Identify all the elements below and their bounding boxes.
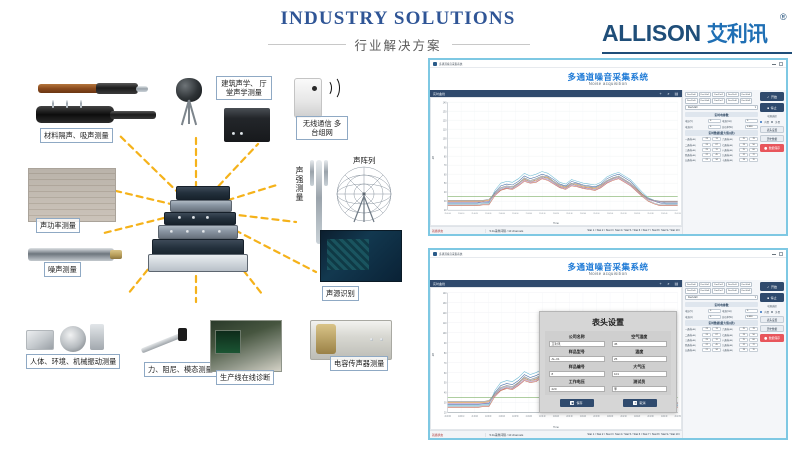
central-daq-chassis — [148, 184, 256, 276]
channel-chip-list-2[interactable]: Dev1/ai0Dev1/ai1Dev1/ai2Dev1/ai3Dev1/ai4… — [685, 282, 758, 294]
page-title-en: INDUSTRY SOLUTIONS — [268, 8, 528, 30]
svg-text:21:00:40: 21:00:40 — [499, 213, 505, 215]
channel-value[interactable]: 11 — [712, 148, 721, 152]
power-supply-label-2: 电源选择 — [760, 304, 784, 308]
channel-tab[interactable]: Stat 8 / — [652, 229, 660, 232]
radio-external-icon[interactable] — [771, 311, 773, 313]
channel-tab[interactable]: Stat 3 / — [606, 229, 614, 232]
svg-text:21:00:00: 21:00:00 — [445, 213, 451, 215]
channel-value[interactable]: 22 — [739, 153, 748, 157]
svg-text:21:00:20: 21:00:20 — [472, 213, 478, 215]
tripod-leg-3 — [188, 100, 190, 124]
channel-value[interactable]: 25 — [739, 137, 748, 141]
channel-chip[interactable]: Dev1/ai5 — [685, 288, 698, 293]
field-label: 总功率(W) — [722, 125, 744, 129]
square-icon: ■ — [767, 106, 769, 110]
dialog-field-input[interactable]: 25 — [612, 356, 668, 362]
channel-value-row: 二通道(dB)2487七通道(dB)2356 — [685, 143, 758, 147]
svg-text:21:00:40: 21:00:40 — [499, 416, 505, 418]
channel-chip[interactable]: Dev1/ai5 — [685, 98, 698, 103]
svg-text:60: 60 — [444, 173, 447, 176]
channel-value[interactable]: 66 — [749, 148, 758, 152]
sw-titlebar-1: 多通道噪音采集系统 — [430, 60, 786, 68]
check-icon: ✓ — [767, 95, 770, 99]
channel-value[interactable]: 45 — [712, 153, 721, 157]
channel-chip[interactable]: Dev1/ai6 — [699, 288, 712, 293]
channel-tab[interactable]: Stat 6 / — [633, 229, 641, 232]
field-value[interactable]: 0 — [708, 125, 721, 129]
plot-toolbar-1: 实时曲线 + ⌕ ▤ — [430, 90, 682, 97]
status-bar-1: 就绪状态 5.0s采样间隔 / 10 channels Stat 1 /Stat… — [430, 226, 682, 234]
dialog-field-input[interactable]: 101 — [612, 371, 668, 377]
channel-value[interactable]: 24 — [702, 333, 711, 337]
power-radio-group-1[interactable]: 内置 外置 — [760, 120, 784, 124]
channel-tab[interactable]: Stat 4 / — [615, 229, 623, 232]
svg-text:60: 60 — [444, 370, 447, 375]
field-value[interactable]: 0 — [708, 119, 721, 123]
dialog-field-input[interactable]: 李 — [612, 386, 668, 392]
realtime-max-header-2: 实时数据(最大值)(表) — [685, 320, 758, 326]
svg-text:40: 40 — [444, 390, 447, 395]
svg-text:20: 20 — [444, 410, 447, 415]
channel-chip[interactable]: Dev1/ai2 — [712, 92, 725, 97]
control-panel-main-1: Dev1/ai0Dev1/ai1Dev1/ai2Dev1/ai3Dev1/ai4… — [685, 92, 758, 232]
header-settings-dialog[interactable]: 表头设置 公司名称艾利讯空气湿度45样品型号AL-01温度25样品编号8大气压1… — [539, 311, 677, 413]
channel-label: 三通道(dB) — [685, 148, 701, 152]
channel-value[interactable]: 21 — [702, 348, 711, 352]
dialog-field-label: 温度 — [635, 349, 643, 355]
dialog-field: 温度25 — [612, 349, 668, 362]
channel-tab[interactable]: Stat 7 / — [643, 433, 651, 436]
title-block: INDUSTRY SOLUTIONS 行业解决方案 — [268, 8, 528, 54]
app-icon — [433, 252, 437, 256]
channel-value[interactable]: 45 — [712, 343, 721, 347]
dialog-field: 测试员李 — [612, 379, 668, 392]
save-label-1: 数据保存 — [769, 146, 780, 150]
channel-tab[interactable]: Stat 3 / — [606, 433, 614, 436]
intensity-probe-mic-2 — [324, 160, 328, 186]
device-select-2[interactable]: Dev1/ai0 — [685, 295, 758, 300]
channel-chip[interactable]: Dev1/ai4 — [740, 92, 753, 97]
svg-text:70: 70 — [444, 164, 447, 167]
channel-tab[interactable]: Stat 5 / — [624, 229, 632, 232]
svg-text:21:02:20: 21:02:20 — [634, 213, 640, 215]
control-panel-side-2: ✓ 开始 ■ 停止 电源选择 内置 外置 — [760, 282, 784, 436]
channel-label: 四通道(dB) — [685, 343, 701, 347]
radio-internal-icon[interactable] — [760, 311, 762, 313]
svg-text:30: 30 — [444, 400, 447, 405]
dialog-buttons: ▣ 保存 ✕ 取消 — [545, 395, 671, 407]
dialog-field-label: 样品编号 — [569, 364, 585, 370]
channel-value[interactable]: 25 — [739, 148, 748, 152]
channel-value[interactable]: 21 — [702, 158, 711, 162]
channel-value-row: 五通道(dB)2134十通道(dB)2870 — [685, 348, 758, 352]
field-voltage-2: 电压(V) 0 电流(mA) 0 — [685, 309, 758, 313]
chart-svg-1: 203040506070809010011012013014021:00:002… — [431, 98, 681, 225]
accelerometer-sensor — [90, 324, 104, 350]
svg-text:100: 100 — [443, 330, 447, 335]
power-supply-label-1: 电源选择 — [760, 114, 784, 118]
field-label: 电压(V) — [685, 119, 707, 123]
channel-value[interactable]: 28 — [739, 348, 748, 352]
dialog-field: 样品编号8 — [549, 364, 605, 377]
dialog-field-input[interactable]: 45 — [612, 341, 668, 347]
wifi-wave-2-icon — [326, 76, 340, 100]
channel-chip[interactable]: Dev1/ai8 — [726, 288, 739, 293]
field-current-2: 电流(A) 0 总功率(W) 0.000 — [685, 315, 758, 319]
channel-value[interactable]: 24 — [702, 143, 711, 147]
channel-value[interactable]: 22 — [702, 153, 711, 157]
field-value[interactable]: 0 — [708, 309, 721, 313]
channel-value[interactable]: 22 — [702, 343, 711, 347]
svg-text:21:01:30: 21:01:30 — [566, 416, 572, 418]
channel-chip[interactable]: Dev1/ai3 — [726, 282, 739, 287]
channel-value[interactable]: 56 — [749, 143, 758, 147]
maximize-icon[interactable] — [779, 252, 783, 256]
field-label: 电压(V) — [685, 309, 707, 313]
channel-value[interactable]: 23 — [702, 327, 711, 331]
control-panel-2: Dev1/ai0Dev1/ai1Dev1/ai2Dev1/ai3Dev1/ai4… — [682, 280, 786, 438]
channel-chip[interactable]: Dev1/ai0 — [685, 282, 698, 287]
svg-text:70: 70 — [444, 360, 447, 365]
channel-chip[interactable]: Dev1/ai1 — [699, 92, 712, 97]
channel-value[interactable]: 72 — [749, 153, 758, 157]
channel-chip[interactable]: Dev1/ai0 — [685, 92, 698, 97]
channel-chip[interactable]: Dev1/ai7 — [712, 288, 725, 293]
channel-value[interactable]: 34 — [712, 348, 721, 352]
solution-diagram: 材料隔声、吸声测量 建筑声学、 厅堂声学测量 无线通信 多台组网 声阵列 — [0, 62, 420, 450]
channel-tabs-1[interactable]: Stat 1 /Stat 2 /Stat 3 /Stat 4 /Stat 5 /… — [587, 229, 682, 232]
svg-text:21:02:40: 21:02:40 — [661, 416, 667, 418]
sound-level-meter-mic — [110, 250, 122, 259]
minimize-icon[interactable] — [772, 253, 776, 255]
control-panel-main-2: Dev1/ai0Dev1/ai1Dev1/ai2Dev1/ai3Dev1/ai4… — [685, 282, 758, 436]
caption-material-insulation: 材料隔声、吸声测量 — [40, 128, 113, 143]
channel-value[interactable]: 29 — [702, 148, 711, 152]
channel-value[interactable]: 78 — [749, 327, 758, 331]
triaxial-accelerometer — [26, 330, 54, 350]
field-value[interactable]: 0 — [745, 309, 758, 313]
tube-port-1 — [52, 100, 54, 108]
channel-chip[interactable]: Dev1/ai3 — [726, 92, 739, 97]
svg-text:21:01:00: 21:01:00 — [526, 416, 532, 418]
tube-port-2 — [66, 100, 68, 108]
channel-chip[interactable]: Dev1/ai1 — [699, 282, 712, 287]
zoom-icon[interactable]: ⌕ — [666, 91, 671, 96]
svg-text:120: 120 — [443, 310, 447, 315]
channel-value[interactable]: 78 — [749, 137, 758, 141]
chassis-module-2 — [170, 200, 232, 212]
save-data-button-2[interactable]: ⬤ 数据保存 — [760, 334, 784, 342]
header-settings-button-2[interactable]: 表头设置 — [760, 316, 784, 323]
page-header: INDUSTRY SOLUTIONS 行业解决方案 ALLISON 艾利讯 ® — [0, 0, 800, 62]
channel-tabs-2[interactable]: Stat 1 /Stat 2 /Stat 3 /Stat 4 /Stat 5 /… — [587, 433, 682, 436]
channel-value-row: 三通道(dB)2911八通道(dB)2566 — [685, 338, 758, 342]
impedance-tube-large — [36, 106, 114, 123]
intensity-probe-mic-1 — [310, 160, 314, 186]
svg-text:21:01:10: 21:01:10 — [539, 416, 545, 418]
chassis-terminal-block — [148, 254, 248, 272]
realtime-params-header-1: 实时电参数 — [685, 112, 758, 118]
svg-text:21:01:40: 21:01:40 — [580, 213, 586, 215]
start-button-1[interactable]: ✓ 开始 — [760, 92, 784, 101]
chassis-module-top — [176, 186, 230, 200]
channel-chip[interactable]: Dev1/ai2 — [712, 282, 725, 287]
channel-chip-list-1[interactable]: Dev1/ai0Dev1/ai1Dev1/ai2Dev1/ai3Dev1/ai4… — [685, 92, 758, 104]
chassis-knob-7 — [206, 216, 209, 219]
channel-chip[interactable]: Dev1/ai9 — [740, 98, 753, 103]
svg-text:21:02:10: 21:02:10 — [620, 213, 626, 215]
dialog-field: 工作电压220 — [549, 379, 605, 392]
chassis-knob-4 — [218, 230, 221, 233]
radio-internal-icon[interactable] — [760, 121, 762, 123]
svg-text:21:01:10: 21:01:10 — [539, 213, 545, 215]
channel-tab[interactable]: Stat 6 / — [633, 433, 641, 436]
channel-chip[interactable]: Dev1/ai8 — [726, 98, 739, 103]
channel-label: 七通道(dB) — [722, 143, 738, 147]
wireless-led-icon — [312, 86, 317, 91]
channel-chip[interactable]: Dev1/ai9 — [740, 288, 753, 293]
channel-tab[interactable]: Stat 9 / — [661, 433, 669, 436]
svg-text:21:02:10: 21:02:10 — [620, 416, 626, 418]
channel-label: 六通道(dB) — [722, 327, 738, 331]
svg-text:90: 90 — [444, 340, 447, 345]
channel-value[interactable]: 13 — [712, 137, 721, 141]
sw-body-2: 实时曲线 + ⌕ ▤ 20304050607080901001101201301… — [430, 280, 786, 438]
field-label: 电流(A) — [685, 125, 707, 129]
channel-label: 九通道(dB) — [722, 343, 738, 347]
field-value[interactable]: 0 — [745, 119, 758, 123]
svg-text:120: 120 — [443, 119, 447, 122]
menu-icon[interactable]: ▤ — [674, 91, 679, 96]
channel-value[interactable]: 29 — [702, 338, 711, 342]
dialog-cancel-button[interactable]: ✕ 取消 — [623, 399, 657, 407]
caption-production-line: 生产线在线诊断 — [216, 370, 274, 385]
status-mid-2: 5.0s采样间隔 / 10 channels — [485, 433, 587, 437]
channel-value[interactable]: 87 — [712, 333, 721, 337]
field-voltage-1: 电压(V) 0 电流(mA) 0 — [685, 119, 758, 123]
channel-tab[interactable]: Stat 5 / — [624, 433, 632, 436]
channel-tab[interactable]: Stat 8 / — [652, 433, 660, 436]
dialog-field-label: 样品型号 — [569, 349, 585, 355]
chassis-knob-3 — [202, 230, 205, 233]
svg-text:21:00:30: 21:00:30 — [485, 416, 491, 418]
channel-label: 五通道(dB) — [685, 348, 701, 352]
status-bar-2: 就绪状态 5.0s采样间隔 / 10 channels Stat 1 /Stat… — [430, 430, 682, 438]
minimize-icon[interactable] — [772, 63, 776, 65]
svg-text:100: 100 — [443, 137, 447, 140]
svg-text:50: 50 — [444, 380, 447, 385]
menu-icon[interactable]: ▤ — [674, 281, 679, 286]
dialog-field-input[interactable]: 艾利讯 — [549, 341, 605, 347]
channel-tab[interactable]: Stat 1 / — [587, 229, 595, 232]
app-icon — [433, 62, 437, 66]
close-icon: ✕ — [633, 401, 637, 405]
stop-button-2[interactable]: ■ 停止 — [760, 293, 784, 302]
power-internal-label: 内置 — [764, 120, 769, 124]
realtime-chart-1[interactable]: 203040506070809010011012013014021:00:002… — [430, 97, 682, 226]
start-button-2[interactable]: ✓ 开始 — [760, 282, 784, 291]
channel-tab[interactable]: Stat 9 / — [661, 229, 669, 232]
caption-modal: 力、阻尼、模态测量 — [144, 362, 217, 377]
header-settings-button-1[interactable]: 表头设置 — [760, 126, 784, 133]
channel-label: 五通道(dB) — [685, 158, 701, 162]
save-data-button-1[interactable]: ⬤ 数据保存 — [760, 144, 784, 152]
channel-label: 十通道(dB) — [722, 348, 738, 352]
svg-text:21:00:10: 21:00:10 — [458, 213, 464, 215]
stop-button-1[interactable]: ■ 停止 — [760, 103, 784, 112]
field-value[interactable]: 0.000 — [745, 125, 758, 129]
caption-noise-measurement: 噪声测量 — [44, 262, 81, 277]
trademark-icon: ® — [780, 12, 787, 22]
field-label: 电流(A) — [685, 315, 707, 319]
svg-text:21:00:00: 21:00:00 — [445, 416, 451, 418]
svg-text:110: 110 — [443, 128, 447, 131]
svg-text:21:00:50: 21:00:50 — [512, 213, 518, 215]
square-icon: ■ — [767, 296, 769, 300]
channel-value[interactable]: 28 — [739, 158, 748, 162]
power-external-label: 外置 — [775, 310, 780, 314]
caption-source-identification: 声源识别 — [322, 286, 359, 301]
beamforming-screenshot — [320, 230, 402, 282]
channel-value[interactable]: 25 — [739, 338, 748, 342]
slide-root: INDUSTRY SOLUTIONS 行业解决方案 ALLISON 艾利讯 ® — [0, 0, 800, 450]
zoom-icon[interactable]: ⌕ — [666, 281, 671, 286]
channel-value-row: 一通道(dB)2313六通道(dB)2578 — [685, 137, 758, 141]
channel-value[interactable]: 23 — [739, 143, 748, 147]
channel-value-row: 四通道(dB)2245九通道(dB)2272 — [685, 153, 758, 157]
channel-tab[interactable]: Stat 10 / — [670, 229, 680, 232]
title-rule-left — [268, 44, 346, 45]
history-data-button-1[interactable]: 历史数据 — [760, 135, 784, 142]
power-external-label: 外置 — [775, 120, 780, 124]
channel-chip[interactable]: Dev1/ai7 — [712, 98, 725, 103]
svg-text:21:02:00: 21:02:00 — [607, 416, 613, 418]
production-line-photo — [210, 320, 282, 372]
field-label: 电流(mA) — [722, 119, 744, 123]
title-rule-right — [452, 44, 530, 45]
channel-tab[interactable]: Stat 2 / — [597, 433, 605, 436]
channel-label: 二通道(dB) — [685, 333, 701, 337]
window-controls-2[interactable] — [772, 252, 783, 256]
field-value[interactable]: 0 — [708, 315, 721, 319]
channel-value-row: 一通道(dB)2313六通道(dB)2578 — [685, 327, 758, 331]
status-left-2: 就绪状态 — [430, 433, 485, 437]
tube-end-cap — [136, 86, 148, 92]
svg-text:30: 30 — [444, 200, 447, 203]
dialog-field: 空气湿度45 — [612, 334, 668, 347]
channel-value[interactable]: 11 — [712, 338, 721, 342]
channel-value[interactable]: 13 — [712, 327, 721, 331]
svg-text:21:00:30: 21:00:30 — [485, 213, 491, 215]
dialog-field-input[interactable]: AL-01 — [549, 356, 605, 362]
svg-text:21:02:20: 21:02:20 — [634, 416, 640, 418]
caption-sound-intensity: 声强测量 — [294, 166, 304, 202]
dialog-field-label: 大气压 — [633, 364, 645, 370]
dialog-field: 样品型号AL-01 — [549, 349, 605, 362]
channel-value[interactable]: 72 — [749, 343, 758, 347]
caption-building-acoustics: 建筑声学、 厅堂声学测量 — [216, 76, 272, 100]
channel-value[interactable]: 87 — [712, 143, 721, 147]
channel-tab[interactable]: Stat 2 / — [597, 229, 605, 232]
channel-tab[interactable]: Stat 4 / — [615, 433, 623, 436]
sw-app-subtitle-1: Noise acquisition — [430, 81, 786, 86]
svg-text:21:00:50: 21:00:50 — [512, 416, 518, 418]
dialog-cancel-label: 取消 — [639, 401, 645, 405]
reverberation-room-photo — [28, 168, 116, 222]
channel-label: 三通道(dB) — [685, 338, 701, 342]
field-label: 电流(mA) — [722, 309, 744, 313]
dialog-field-label: 工作电压 — [569, 379, 585, 385]
channel-value[interactable]: 70 — [749, 158, 758, 162]
add-icon[interactable]: + — [658, 281, 663, 286]
svg-text:110: 110 — [443, 320, 447, 325]
sw-window-title-1: 多通道噪音采集系统 — [439, 62, 462, 66]
channel-value[interactable]: 23 — [702, 137, 711, 141]
start-label-2: 开始 — [771, 285, 777, 289]
sw-banner-2: 多通道噪音采集系统 Noise acquisition — [430, 258, 786, 280]
channel-value[interactable]: 70 — [749, 348, 758, 352]
impact-hammer-head — [178, 328, 187, 341]
channel-tab[interactable]: Stat 10 / — [670, 433, 680, 436]
channel-value[interactable]: 25 — [739, 327, 748, 331]
power-amplifier-unit — [224, 108, 270, 142]
chassis-module-3 — [164, 212, 236, 225]
power-radio-group-2[interactable]: 内置 外置 — [760, 310, 784, 314]
chassis-knob-5 — [178, 216, 181, 219]
channel-tab[interactable]: Stat 1 / — [587, 433, 595, 436]
sw-titlebar-2: 多通道噪音采集系统 — [430, 250, 786, 258]
device-select-1[interactable]: Dev1/ai0 — [685, 105, 758, 110]
dialog-save-button[interactable]: ▣ 保存 — [560, 399, 594, 407]
maximize-icon[interactable] — [779, 62, 783, 66]
logo-text-en: ALLISON — [602, 22, 701, 45]
channel-chip[interactable]: Dev1/ai6 — [699, 98, 712, 103]
caption-wireless: 无线通信 多台组网 — [296, 116, 348, 140]
add-icon[interactable]: + — [658, 91, 663, 96]
control-panel-side-1: ✓ 开始 ■ 停止 电源选择 内置 外置 — [760, 92, 784, 232]
save-icon: ⬤ — [764, 146, 767, 150]
channel-value-row: 二通道(dB)2487七通道(dB)2356 — [685, 333, 758, 337]
svg-text:21:02:50: 21:02:50 — [675, 416, 681, 418]
channel-chip[interactable]: Dev1/ai4 — [740, 282, 753, 287]
svg-text:80: 80 — [444, 155, 447, 158]
field-value[interactable]: 0.000 — [745, 315, 758, 319]
software-screenshot-bottom: 多通道噪音采集系统 多通道噪音采集系统 Noise acquisition 实时… — [428, 248, 788, 440]
dialog-field-input[interactable]: 220 — [549, 386, 605, 392]
channel-value[interactable]: 34 — [712, 158, 721, 162]
svg-text:21:01:50: 21:01:50 — [593, 213, 599, 215]
history-data-button-2[interactable]: 历史数据 — [760, 325, 784, 332]
channel-value[interactable]: 56 — [749, 333, 758, 337]
channel-tab[interactable]: Stat 7 / — [643, 229, 651, 232]
svg-text:130: 130 — [443, 300, 447, 305]
radio-external-icon[interactable] — [771, 121, 773, 123]
channel-value[interactable]: 66 — [749, 338, 758, 342]
dialog-field-input[interactable]: 8 — [549, 371, 605, 377]
channel-value[interactable]: 22 — [739, 343, 748, 347]
plot-panel-title-1: 实时曲线 — [433, 92, 445, 96]
channel-value[interactable]: 23 — [739, 333, 748, 337]
chart-xlabel-1: Time — [431, 222, 681, 225]
power-internal-label: 内置 — [764, 310, 769, 314]
logo-underline — [602, 52, 792, 54]
control-panel-1: Dev1/ai0Dev1/ai1Dev1/ai2Dev1/ai3Dev1/ai4… — [682, 90, 786, 234]
window-controls-1[interactable] — [772, 62, 783, 66]
channel-label: 一通道(dB) — [685, 137, 701, 141]
svg-text:21:02:30: 21:02:30 — [648, 416, 654, 418]
channel-value-row: 四通道(dB)2245九通道(dB)2272 — [685, 343, 758, 347]
